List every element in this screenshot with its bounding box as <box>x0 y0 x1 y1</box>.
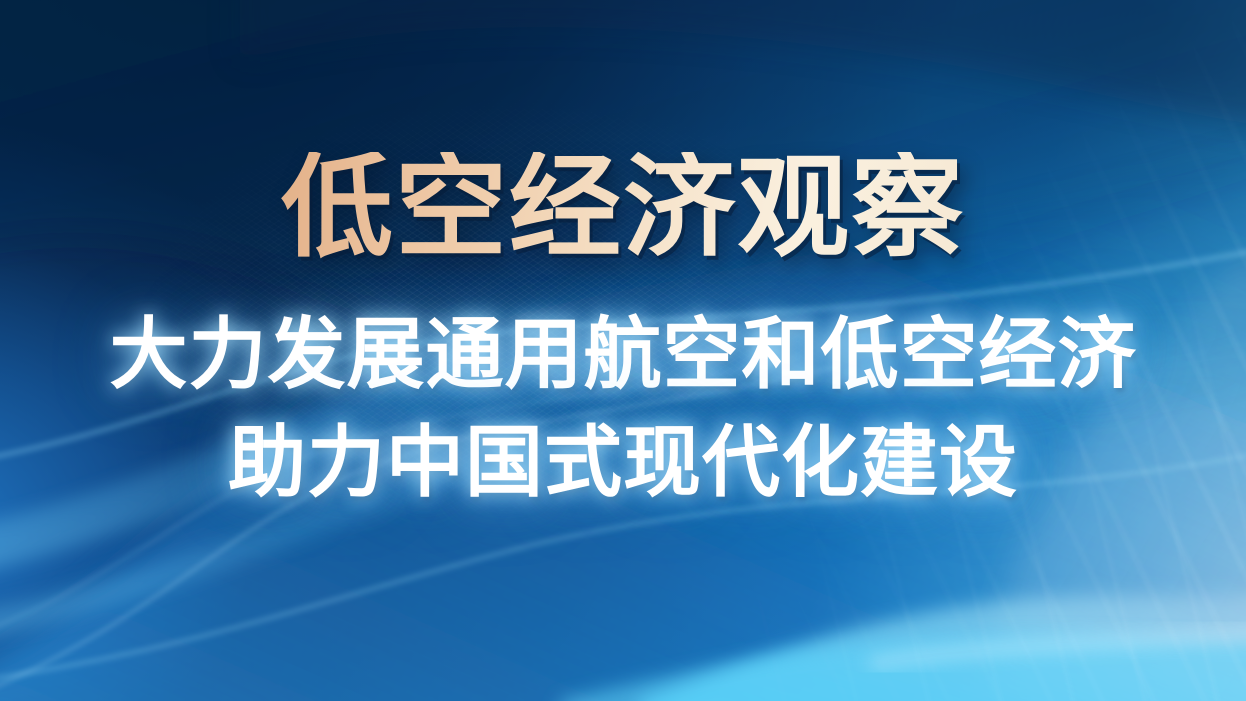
subtitle-block: 大力发展通用航空和低空经济 助力中国式现代化建设 <box>109 304 1136 515</box>
main-title: 低空经济观察 <box>281 152 965 264</box>
subtitle-line-1: 大力发展通用航空和低空经济 <box>109 304 1136 408</box>
poster-text-stack: 低空经济观察 大力发展通用航空和低空经济 助力中国式现代化建设 <box>0 0 1246 701</box>
subtitle-line-2: 助力中国式现代化建设 <box>109 412 1136 516</box>
poster-canvas: 低空经济观察 大力发展通用航空和低空经济 助力中国式现代化建设 <box>0 0 1246 701</box>
